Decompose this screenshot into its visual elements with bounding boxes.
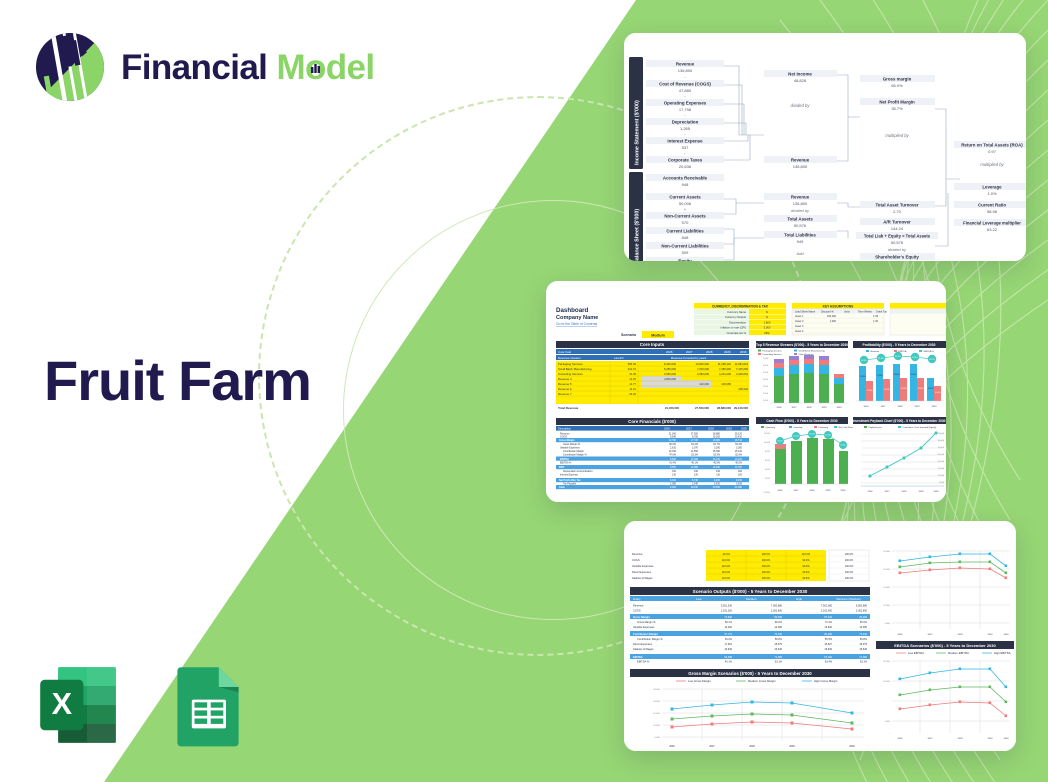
svg-text:100.0%: 100.0% — [845, 553, 854, 556]
svg-text:8,300: 8,300 — [778, 441, 783, 443]
svg-text:Dashboard: Dashboard — [556, 307, 589, 314]
svg-text:59.1%: 59.1% — [725, 621, 733, 624]
svg-text:10,000: 10,000 — [653, 725, 660, 727]
svg-text:2,162,900: 2,162,900 — [821, 610, 833, 613]
svg-text:136,800: 136,800 — [678, 68, 693, 73]
svg-text:Variable Expenses: Variable Expenses — [633, 625, 655, 629]
svg-text:41.4%: 41.4% — [669, 461, 677, 464]
svg-text:65.0%: 65.0% — [775, 621, 783, 624]
svg-text:Low EBITDA: Low EBITDA — [908, 651, 924, 655]
svg-text:Payback year: Payback year — [869, 426, 883, 429]
svg-text:5,250,000: 5,250,000 — [664, 367, 676, 371]
svg-text:144.24: 144.24 — [891, 226, 904, 231]
svg-text:15,500: 15,500 — [884, 389, 890, 391]
svg-text:71,000: 71,000 — [938, 433, 945, 435]
svg-text:5,000: 5,000 — [885, 623, 891, 625]
left-panel: Financial Model Fruit Farm X — [0, 0, 470, 782]
svg-text:27,800: 27,800 — [877, 375, 883, 377]
svg-text:18,680: 18,680 — [713, 439, 721, 442]
svg-text:16,640: 16,640 — [774, 648, 782, 651]
svg-text:4,000: 4,000 — [765, 469, 771, 471]
svg-text:110.0%: 110.0% — [722, 577, 731, 580]
svg-text:2028: 2028 — [898, 406, 904, 408]
svg-text:11,000: 11,000 — [938, 475, 945, 477]
svg-text:Revenue 6: Revenue 6 — [558, 387, 572, 391]
svg-text:2027: 2027 — [885, 491, 891, 493]
svg-text:Income Statement ($'000): Income Statement ($'000) — [635, 100, 641, 165]
svg-text:High Gross Margin: High Gross Margin — [814, 679, 838, 683]
svg-text:110: 110 — [716, 473, 720, 476]
svg-text:Inflation on rate (CPI): Inflation on rate (CPI) — [720, 326, 746, 330]
svg-text:3,000: 3,000 — [763, 386, 769, 388]
svg-text:108,202: 108,202 — [738, 387, 748, 391]
svg-text:47,880: 47,880 — [679, 88, 692, 93]
svg-text:100.0%: 100.0% — [762, 553, 771, 556]
svg-text:7,425,600: 7,425,600 — [736, 367, 748, 371]
svg-text:46.2%: 46.2% — [725, 638, 733, 641]
svg-text:12,840: 12,840 — [713, 466, 721, 469]
dashboard-card[interactable]: Dashboard Company Name Go to the Table o… — [546, 281, 946, 502]
svg-text:Medium: Medium — [746, 597, 757, 601]
svg-text:2029: 2029 — [826, 490, 832, 492]
svg-text:Consulting Services: Consulting Services — [763, 353, 783, 356]
svg-text:Go to the Table of Contents: Go to the Table of Contents — [556, 322, 598, 326]
svg-text:2027: 2027 — [928, 634, 934, 636]
svg-text:2026: 2026 — [664, 426, 670, 430]
svg-text:2029: 2029 — [724, 350, 731, 354]
svg-text:Interest Expense: Interest Expense — [560, 473, 579, 476]
svg-text:2027: 2027 — [928, 738, 934, 740]
svg-text:50,576: 50,576 — [891, 240, 904, 245]
svg-text:Grant Top: Grant Top — [876, 310, 888, 313]
svg-text:15,600: 15,600 — [918, 388, 924, 390]
svg-text:87,440: 87,440 — [824, 616, 832, 619]
svg-text:28%: 28% — [764, 331, 770, 335]
svg-text:6,000: 6,000 — [763, 365, 769, 367]
svg-text:25,000: 25,000 — [883, 551, 890, 553]
svg-text:2028: 2028 — [708, 426, 714, 430]
svg-text:570: 570 — [682, 220, 689, 225]
svg-text:7,000,000: 7,000,000 — [697, 367, 709, 371]
svg-text:Small Batch Manufacturing: Small Batch Manufacturing — [799, 349, 826, 352]
svg-text:57,770: 57,770 — [724, 633, 732, 636]
svg-text:Entity: Entity — [633, 597, 641, 601]
svg-text:45.0%: 45.0% — [735, 461, 743, 464]
svg-text:Total Liab + Equity = Total As: Total Liab + Equity = Total Assets — [864, 234, 931, 239]
svg-text:310: 310 — [716, 470, 721, 473]
scenario-sheet: RevenueCOGS Variable ExpensesDirect Expe… — [624, 521, 1016, 751]
svg-text:Packaging Services: Packaging Services — [763, 349, 783, 352]
svg-text:COGS: COGS — [632, 558, 640, 562]
svg-text:Operating Expenses: Operating Expenses — [664, 101, 707, 106]
svg-text:15,000: 15,000 — [883, 587, 890, 589]
svg-text:Leverage: Leverage — [982, 185, 1002, 190]
svg-text:Corporate Taxes: Corporate Taxes — [668, 158, 703, 163]
svg-text:64.4%: 64.4% — [691, 443, 699, 446]
svg-text:Net Profit Margin: Net Profit Margin — [879, 100, 915, 105]
svg-text:65.0%: 65.0% — [860, 621, 868, 624]
svg-text:Financial Leverage multiplier: Financial Leverage multiplier — [963, 221, 1021, 226]
svg-text:Gross Margin %: Gross Margin % — [637, 620, 656, 624]
svg-text:Revenue 5: Revenue 5 — [558, 382, 572, 386]
svg-text:102,000: 102,000 — [699, 382, 709, 386]
svg-text:Asset 2: Asset 2 — [795, 320, 804, 323]
svg-text:2030: 2030 — [932, 406, 938, 408]
svg-text:Contribution Margin %: Contribution Margin % — [563, 454, 588, 457]
svg-text:2029: 2029 — [789, 745, 795, 748]
svg-text:Discount %: Discount % — [821, 310, 834, 313]
svg-text:10,150: 10,150 — [669, 450, 677, 453]
svg-text:65.0%: 65.0% — [891, 83, 903, 88]
svg-text:949: 949 — [797, 239, 804, 244]
svg-text:2028: 2028 — [958, 738, 964, 740]
svg-text:13,150: 13,150 — [713, 458, 721, 461]
svg-text:multiplied by: multiplied by — [885, 133, 909, 138]
logo-o-bars-icon — [308, 60, 322, 74]
svg-text:100.0%: 100.0% — [762, 571, 771, 574]
svg-text:6,000: 6,000 — [765, 460, 771, 462]
svg-text:2026: 2026 — [864, 406, 870, 408]
svg-text:1,000: 1,000 — [830, 320, 837, 323]
svg-text:Gross Margin: Gross Margin — [633, 615, 650, 619]
svg-text:2027: 2027 — [794, 490, 800, 492]
svg-text:11,500: 11,500 — [809, 434, 815, 436]
svg-text:21,450,000: 21,450,000 — [665, 406, 679, 410]
svg-text:2,610: 2,610 — [670, 446, 677, 449]
svg-text:52,385: 52,385 — [724, 656, 732, 659]
svg-text:15,410: 15,410 — [735, 450, 743, 453]
svg-text:53.3%: 53.3% — [713, 454, 721, 457]
svg-text:Revenue: Revenue — [633, 603, 644, 607]
svg-text:Return on Total Assets (ROA): Return on Total Assets (ROA) — [961, 143, 1023, 148]
svg-text:8,500: 8,500 — [670, 466, 677, 469]
svg-text:90.0%: 90.0% — [802, 571, 810, 574]
svg-text:X: X — [52, 687, 73, 721]
svg-text:Company Name: Company Name — [556, 315, 598, 321]
svg-text:948: 948 — [682, 182, 689, 187]
svg-text:Packaging Services: Packaging Services — [558, 362, 583, 366]
svg-text:56.8%: 56.8% — [775, 638, 783, 641]
svg-text:Shareholder's Equity: Shareholder's Equity — [875, 255, 919, 260]
svg-text:90.0%: 90.0% — [802, 577, 810, 580]
svg-text:2026: 2026 — [777, 407, 783, 409]
svg-text:Total Asset Turnover: Total Asset Turnover — [875, 203, 918, 208]
svg-text:13,100: 13,100 — [735, 458, 743, 461]
svg-text:130: 130 — [672, 473, 677, 476]
svg-text:2026: 2026 — [666, 350, 673, 354]
svg-text:2028: 2028 — [749, 745, 755, 748]
svg-text:2.70: 2.70 — [893, 209, 902, 214]
svg-text:25,000: 25,000 — [653, 689, 660, 691]
svg-text:22.20: 22.20 — [629, 392, 636, 396]
brand-word-model: Model — [276, 48, 374, 87]
svg-text:Medium Gross Margin: Medium Gross Margin — [748, 679, 776, 683]
svg-text:Revenue: Revenue — [791, 158, 810, 163]
svg-text:53.3%: 53.3% — [929, 359, 935, 361]
svg-text:EBITDA Scenarios ($'000) - 5 Y: EBITDA Scenarios ($'000) - 5 Years to De… — [894, 643, 996, 648]
svg-text:Direct Expenses: Direct Expenses — [633, 642, 653, 646]
svg-text:30,650: 30,650 — [713, 486, 721, 489]
svg-text:Net Cash Flow: Net Cash Flow — [839, 426, 854, 429]
svg-text:41,000: 41,000 — [938, 454, 945, 456]
svg-text:2027: 2027 — [881, 406, 887, 408]
svg-text:70,330: 70,330 — [774, 633, 782, 636]
svg-text:Cumulative Cash Invested (Equi: Cumulative Cash Invested (Equity) — [903, 426, 937, 429]
svg-text:KEY ASSUMPTIONS: KEY ASSUMPTIONS — [823, 304, 854, 308]
svg-text:0.97: 0.97 — [988, 149, 997, 154]
svg-text:Investing: Investing — [794, 426, 804, 429]
svg-text:COGS: COGS — [633, 609, 641, 613]
svg-text:Non-Current Assets: Non-Current Assets — [664, 214, 706, 219]
svg-text:100.0%: 100.0% — [762, 565, 771, 568]
svg-text:312.15: 312.15 — [628, 367, 637, 371]
svg-text:Revenue 7: Revenue 7 — [558, 392, 572, 396]
svg-text:Top 5 Revenue Streams ($'000): Top 5 Revenue Streams ($'000) - 5 Years … — [756, 343, 848, 347]
svg-text:26,300: 26,300 — [860, 376, 866, 378]
svg-text:Balance Sheet ($'000): Balance Sheet ($'000) — [635, 209, 641, 261]
svg-text:136,800: 136,800 — [793, 201, 808, 206]
svg-text:8,400: 8,400 — [670, 486, 677, 489]
svg-text:EBITDA %: EBITDA % — [637, 660, 650, 664]
svg-text:136,800: 136,800 — [793, 164, 808, 169]
svg-text:5,551,530: 5,551,530 — [721, 604, 733, 607]
dupont-group-labels: Income Statement ($'000) Balance Sheet (… — [629, 57, 643, 261]
svg-text:65.5%: 65.5% — [825, 638, 833, 641]
svg-text:2029: 2029 — [726, 426, 732, 430]
svg-text:3,300: 3,300 — [736, 446, 743, 449]
svg-text:64.7%: 64.7% — [713, 443, 721, 446]
svg-text:10,755: 10,755 — [793, 436, 799, 438]
svg-text:5,000: 5,000 — [763, 372, 769, 374]
svg-text:2030: 2030 — [837, 407, 843, 409]
svg-text:58.98: 58.98 — [987, 209, 998, 214]
svg-text:divided by: divided by — [791, 208, 810, 213]
dupont-analysis-card[interactable]: Income Statement ($'000) Balance Sheet (… — [624, 33, 1026, 261]
svg-text:63.22: 63.22 — [987, 227, 998, 232]
svg-text:3,290: 3,290 — [714, 446, 721, 449]
svg-text:35.7%: 35.7% — [891, 106, 903, 111]
svg-text:110.0%: 110.0% — [722, 559, 731, 562]
svg-text:100.0%: 100.0% — [845, 559, 854, 562]
svg-text:14.77: 14.77 — [629, 382, 636, 386]
svg-text:High: High — [796, 597, 803, 601]
svg-text:1.00: 1.00 — [873, 320, 878, 323]
svg-text:Scenario Outputs ($'000) - 5 Y: Scenario Outputs ($'000) - 5 Years to De… — [693, 589, 808, 594]
svg-text:7,501,080: 7,501,080 — [821, 604, 833, 607]
svg-text:11,891,001: 11,891,001 — [735, 362, 749, 366]
svg-text:1,000: 1,000 — [763, 400, 769, 402]
svg-text:16,640: 16,640 — [724, 648, 732, 651]
svg-text:45.5%: 45.5% — [713, 461, 721, 464]
svg-text:55.3%: 55.3% — [895, 356, 901, 358]
svg-text:2026: 2026 — [898, 738, 904, 740]
svg-text:multiplied by: multiplied by — [980, 162, 1004, 167]
svg-text:Currency Outputs: Currency Outputs — [725, 315, 747, 319]
scenario-analysis-card[interactable]: RevenueCOGS Variable ExpensesDirect Expe… — [624, 521, 1016, 751]
svg-text:2029: 2029 — [988, 738, 994, 740]
svg-text:3,000: 3,000 — [764, 326, 771, 330]
svg-text:80,180: 80,180 — [824, 633, 832, 636]
svg-text:10,000: 10,000 — [883, 605, 890, 607]
svg-text:80,480: 80,480 — [774, 616, 782, 619]
svg-text:3,340: 3,340 — [692, 482, 699, 485]
svg-text:Variance (Medium): Variance (Medium) — [836, 597, 861, 601]
svg-text:12,390: 12,390 — [691, 458, 699, 461]
svg-text:Operating: Operating — [766, 426, 776, 429]
svg-text:100.0%: 100.0% — [845, 565, 854, 568]
svg-text:2,380: 2,380 — [670, 482, 677, 485]
svg-text:2029: 2029 — [919, 491, 925, 493]
dupont-sheet: Income Statement ($'000) Balance Sheet (… — [624, 33, 1026, 261]
svg-text:71.4%: 71.4% — [825, 621, 833, 624]
svg-text:Variable Expenses: Variable Expenses — [560, 446, 581, 449]
svg-text:28,800: 28,800 — [894, 374, 900, 376]
svg-text:4,243,200: 4,243,200 — [719, 372, 731, 376]
svg-text:310: 310 — [694, 470, 699, 473]
svg-text:Asset 1: Asset 1 — [795, 315, 804, 318]
svg-text:2026: 2026 — [778, 490, 784, 492]
svg-text:45.1%: 45.1% — [691, 461, 699, 464]
svg-text:64.3%: 64.3% — [735, 443, 743, 446]
svg-text:10,410: 10,410 — [735, 436, 743, 439]
svg-text:12,080: 12,080 — [691, 466, 699, 469]
svg-text:17,758: 17,758 — [679, 107, 692, 112]
svg-text:61,000: 61,000 — [938, 440, 945, 442]
svg-text:Consulting Services: Consulting Services — [558, 372, 583, 376]
svg-text:Interest Expense: Interest Expense — [667, 139, 703, 144]
svg-text:Cost of Revenue (COGS): Cost of Revenue (COGS) — [659, 82, 711, 87]
svg-text:Add: Add — [795, 251, 804, 256]
svg-text:18,975: 18,975 — [774, 643, 782, 646]
svg-text:EBITDA: EBITDA — [560, 458, 569, 461]
svg-text:31.05: 31.05 — [629, 372, 636, 376]
svg-text:53.0%: 53.0% — [912, 357, 918, 359]
svg-text:40.1%: 40.1% — [725, 661, 733, 664]
svg-text:11,298,120: 11,298,120 — [718, 362, 732, 366]
svg-text:20,636: 20,636 — [679, 164, 692, 169]
svg-text:EBITDA %: EBITDA % — [924, 350, 934, 353]
svg-text:Units: Units — [844, 310, 850, 313]
microsoft-excel-icon[interactable]: X — [33, 660, 123, 750]
svg-text:2029: 2029 — [915, 406, 921, 408]
svg-text:Revenue: Revenue — [791, 195, 810, 200]
svg-text:8,400,000: 8,400,000 — [664, 362, 676, 366]
svg-text:15,900: 15,900 — [901, 388, 907, 390]
svg-text:47.6%: 47.6% — [669, 454, 677, 457]
svg-text:53.1%: 53.1% — [775, 661, 783, 664]
svg-text:2028: 2028 — [706, 350, 713, 354]
svg-text:18,975: 18,975 — [859, 643, 867, 646]
svg-text:90.0%: 90.0% — [802, 559, 810, 562]
svg-text:Non-Current Liabilities: Non-Current Liabilities — [661, 244, 709, 249]
brand-wordmark: Financial Model — [121, 50, 375, 85]
svg-text:Revenue 4: Revenue 4 — [558, 377, 572, 381]
svg-text:15,840: 15,840 — [824, 648, 832, 651]
svg-text:2,000: 2,000 — [763, 393, 769, 395]
svg-text:584.35: 584.35 — [628, 362, 637, 366]
svg-text:1.05: 1.05 — [873, 315, 878, 318]
svg-text:Salaries & Wages: Salaries & Wages — [633, 647, 654, 651]
svg-text:2030: 2030 — [741, 426, 747, 430]
svg-text:Gross margin: Gross margin — [883, 77, 912, 82]
svg-text:509: 509 — [682, 250, 689, 255]
svg-text:44,080: 44,080 — [735, 486, 743, 489]
svg-text:Revenue: Revenue — [632, 552, 643, 556]
svg-text:EBITDA %: EBITDA % — [560, 461, 572, 464]
svg-text:Salaries & Wages: Salaries & Wages — [632, 576, 653, 580]
svg-text:Core Cost: Core Cost — [558, 350, 571, 354]
svg-text:Lead Sheet Name: Lead Sheet Name — [795, 310, 816, 313]
svg-text:Direct Expenses: Direct Expenses — [632, 570, 652, 574]
svg-text:7,000: 7,000 — [763, 358, 769, 360]
svg-text:Current Assets: Current Assets — [669, 195, 701, 200]
svg-text:17,951: 17,951 — [724, 643, 732, 646]
svg-text:19,150: 19,150 — [691, 486, 699, 489]
svg-text:1.0%: 1.0% — [987, 191, 997, 196]
svg-text:110.0%: 110.0% — [802, 553, 811, 556]
svg-text:2030: 2030 — [1004, 634, 1010, 636]
svg-text:-20.0%: -20.0% — [722, 553, 731, 556]
svg-text:Small Batch Manufacturing: Small Batch Manufacturing — [558, 367, 592, 371]
svg-text:16,640: 16,640 — [859, 648, 867, 651]
svg-text:Current Liabilities: Current Liabilities — [666, 229, 704, 234]
svg-text:3,070: 3,070 — [692, 446, 699, 449]
svg-text:53.1%: 53.1% — [860, 661, 868, 664]
svg-text:15,827: 15,827 — [824, 643, 832, 646]
svg-text:60.0%: 60.0% — [669, 443, 677, 446]
svg-text:4,000: 4,000 — [763, 379, 769, 381]
svg-text:Accounts Receivable: Accounts Receivable — [663, 176, 708, 181]
svg-text:Depreciation: Depreciation — [672, 120, 699, 125]
svg-text:Contribution Margin: Contribution Margin — [563, 450, 585, 453]
svg-text:20,000: 20,000 — [883, 661, 890, 663]
svg-text:310: 310 — [672, 470, 677, 473]
svg-text:52.9%: 52.9% — [735, 454, 743, 457]
svg-text:100: 100 — [738, 473, 743, 476]
svg-text:Core Financials ($'000): Core Financials ($'000) — [628, 419, 676, 424]
svg-text:2,362,800: 2,362,800 — [856, 610, 868, 613]
svg-text:20,000: 20,000 — [883, 569, 890, 571]
svg-text:320: 320 — [738, 470, 743, 473]
svg-text:51,000: 51,000 — [938, 447, 945, 449]
svg-text:2030: 2030 — [740, 350, 747, 354]
svg-text:100.0%: 100.0% — [845, 577, 854, 580]
svg-text:2028: 2028 — [958, 634, 964, 636]
svg-text:Scenario: Scenario — [621, 333, 637, 337]
svg-text:18,710: 18,710 — [735, 439, 743, 442]
google-sheets-icon[interactable] — [163, 660, 253, 750]
svg-text:1,265: 1,265 — [680, 126, 691, 131]
svg-text:COGS: COGS — [560, 436, 567, 439]
svg-text:Asset 4: Asset 4 — [795, 330, 804, 333]
brand-logo: Financial Model — [33, 30, 375, 104]
svg-text:2026: 2026 — [868, 491, 874, 493]
svg-text:11.10: 11.10 — [629, 387, 636, 391]
svg-text:17,720: 17,720 — [691, 439, 699, 442]
svg-text:Current Ratio: Current Ratio — [978, 203, 1006, 208]
svg-text:50,006: 50,006 — [679, 201, 692, 206]
svg-text:Total Assets: Total Assets — [787, 217, 813, 222]
svg-text:80,480: 80,480 — [859, 616, 867, 619]
svg-text:12,000: 12,000 — [764, 433, 771, 435]
svg-text:14,380: 14,380 — [859, 626, 867, 629]
svg-text:14,380: 14,380 — [774, 626, 782, 629]
svg-text:48,828: 48,828 — [794, 78, 807, 83]
svg-text:3,630: 3,630 — [736, 482, 743, 485]
svg-text:4,080,000: 4,080,000 — [697, 372, 709, 376]
svg-text:11,300: 11,300 — [825, 435, 831, 437]
svg-text:2027: 2027 — [686, 350, 693, 354]
